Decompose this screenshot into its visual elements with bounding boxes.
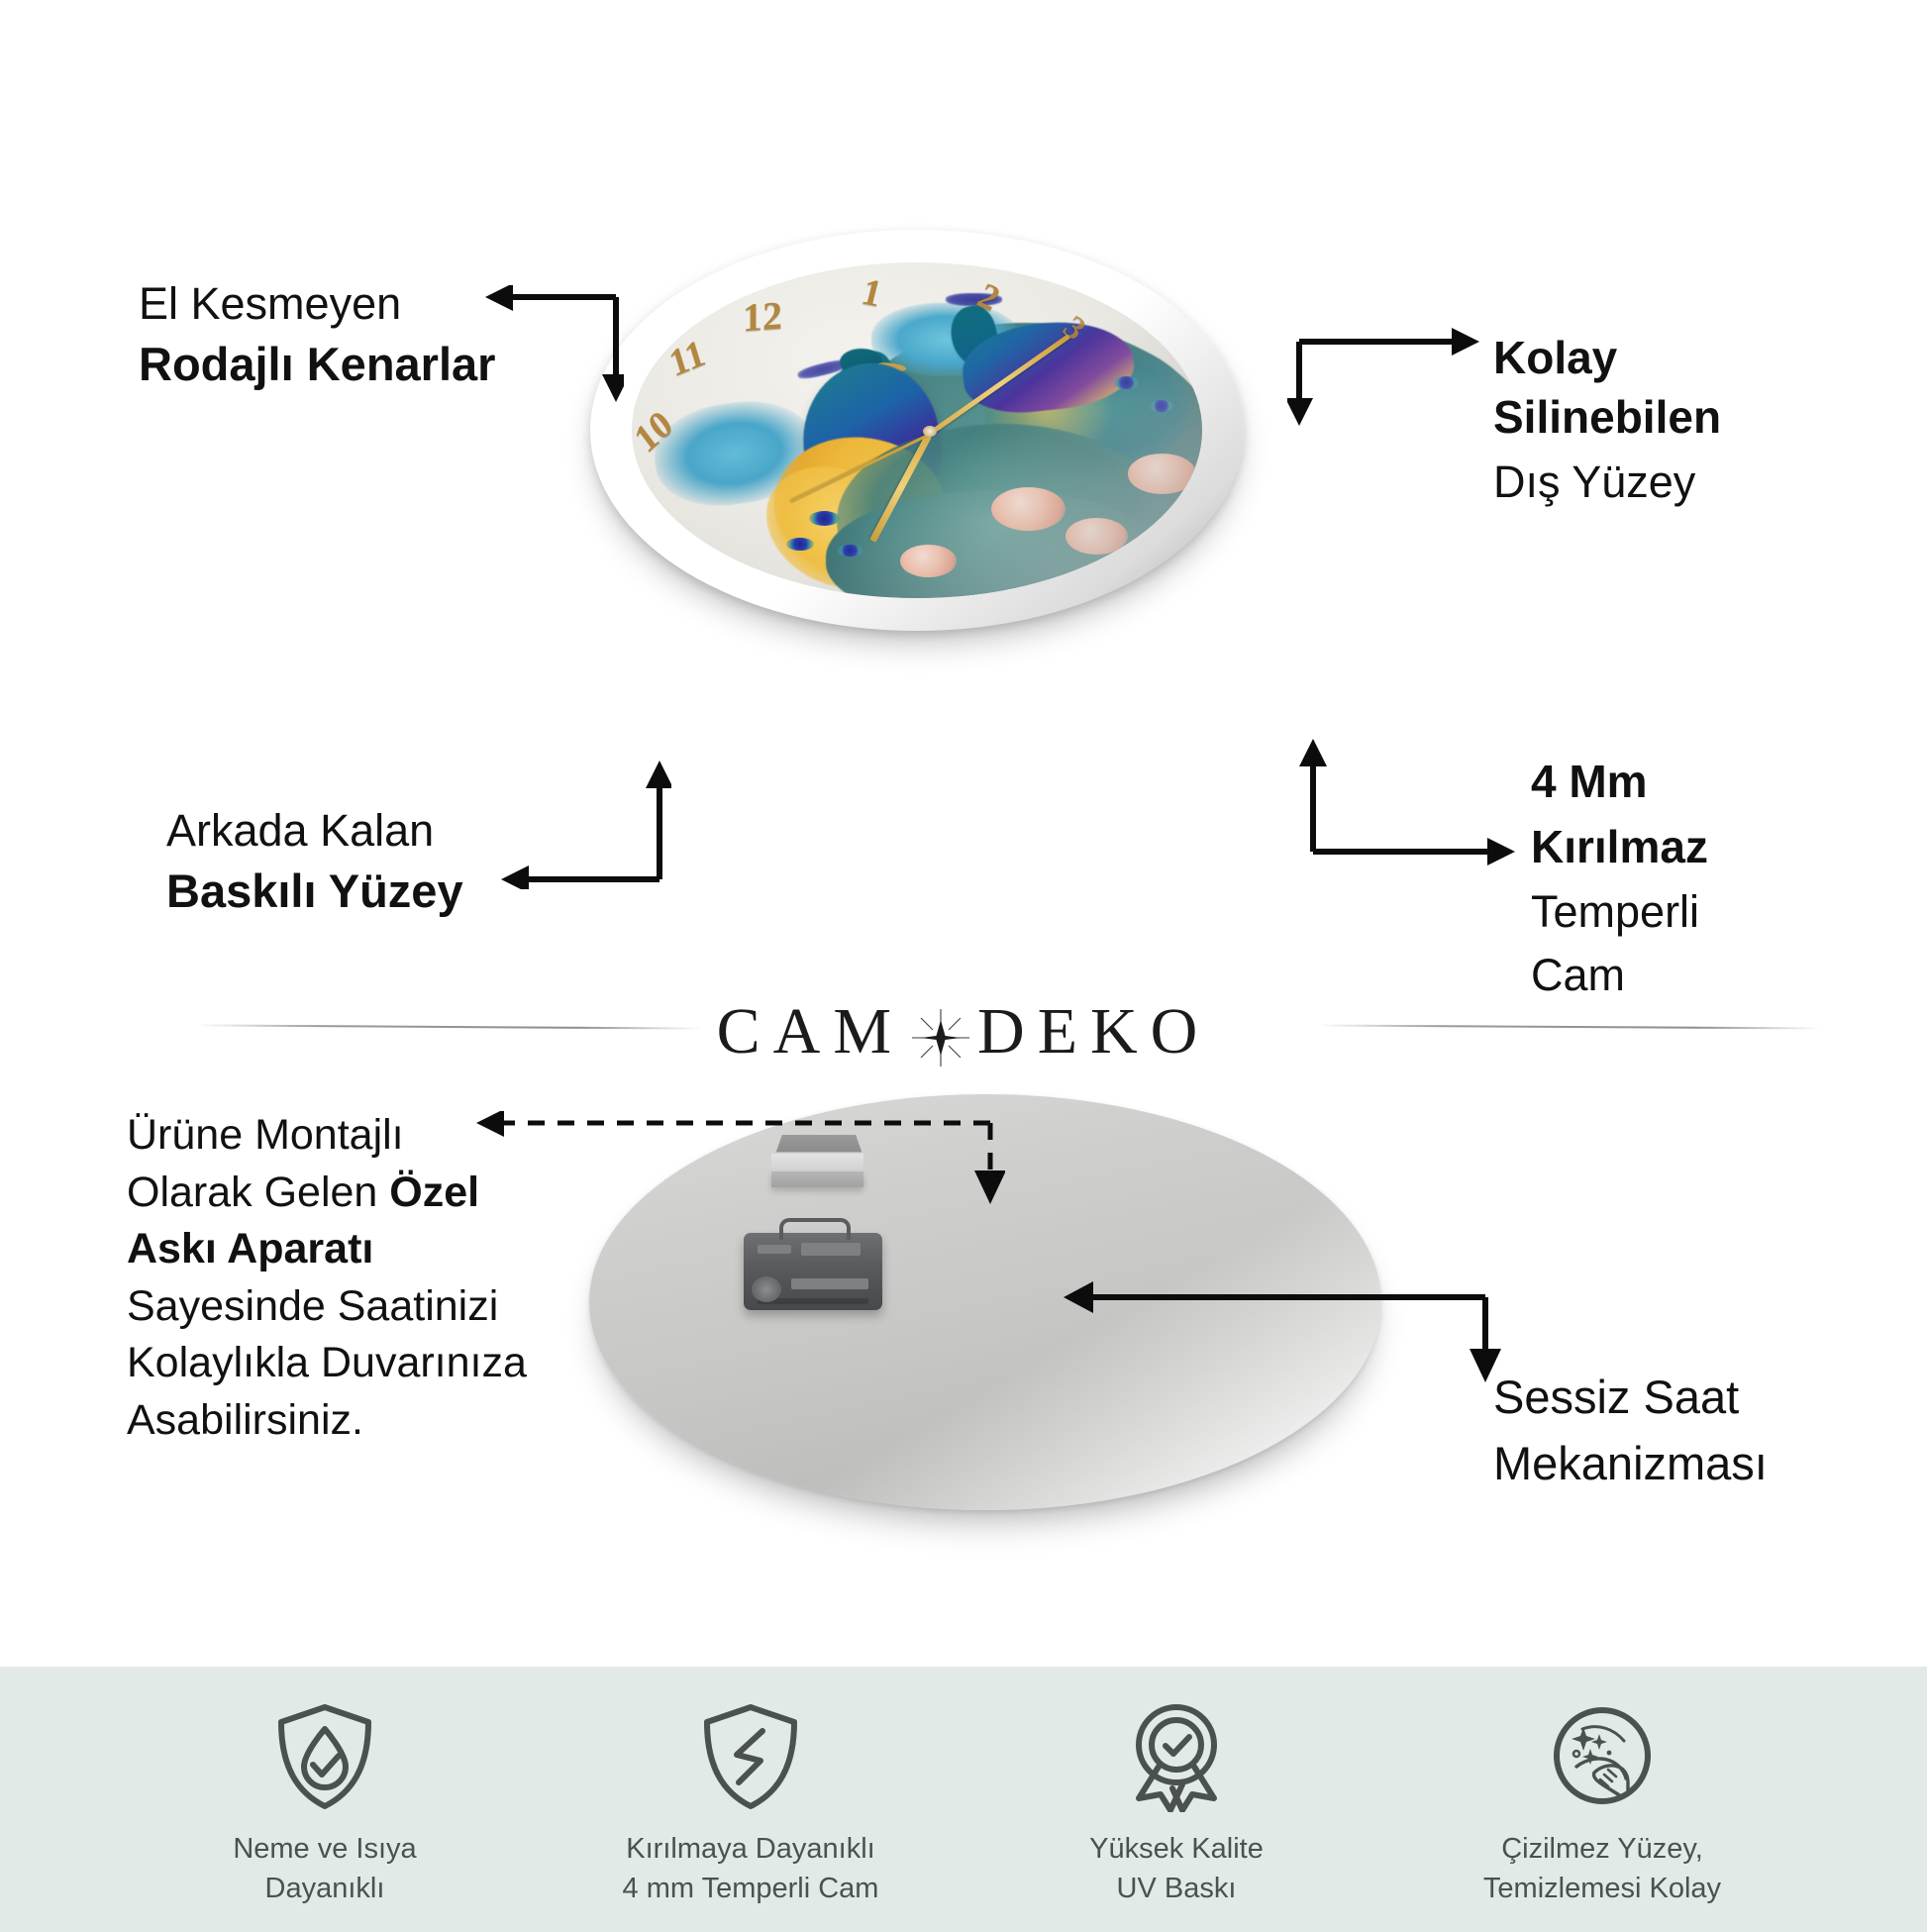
- callout-aski-line-5: Kolaylıkla Duvarınıza: [127, 1335, 527, 1392]
- brand-divider-band: CAM DEKO: [0, 951, 1927, 1079]
- arrow-to-kolay-silinebilen: [1287, 327, 1485, 446]
- shield-crack-icon: [699, 1698, 802, 1815]
- callout-cam-line-3: Temperli: [1531, 883, 1708, 942]
- callout-aski-line-6: Asabilirsiniz.: [127, 1392, 527, 1450]
- clock-artwork: [632, 262, 1202, 598]
- callout-rodajli-kenarlar: El Kesmeyen Rodajlı Kenarlar: [139, 275, 495, 394]
- arrow-to-baskili-yuzey: [473, 741, 671, 889]
- feature-caption-line-2: Temizlemesi Kolay: [1483, 1869, 1721, 1908]
- infographic-stage: 12 1 2 3 11 10 9 El Kesmeyen Rodajlı Ken…: [0, 0, 1927, 1932]
- callout-aski-line-4: Sayesinde Saatinizi: [127, 1278, 527, 1336]
- feature-caption-line-2: 4 mm Temperli Cam: [623, 1869, 879, 1908]
- clock-dial: 12 1 2 3 11 10 9: [632, 262, 1202, 598]
- feature-bar: Neme ve Isıya Dayanıklı Kırılmaya Dayanı…: [0, 1667, 1927, 1932]
- brand-logo: CAM DEKO: [0, 994, 1927, 1070]
- feature-item-uv-print-quality: Yüksek Kalite UV Baskı: [963, 1690, 1389, 1908]
- callout-aski-line-3: Askı Aparatı: [127, 1221, 527, 1278]
- clock-numeral-12: 12: [744, 291, 783, 341]
- feature-caption-line-1: Yüksek Kalite: [1089, 1829, 1264, 1869]
- feature-caption-break-resistant: Kırılmaya Dayanıklı 4 mm Temperli Cam: [623, 1829, 879, 1908]
- callout-cam-line-1: 4 Mm: [1531, 753, 1708, 812]
- brand-logo-deko: DEKO: [977, 995, 1210, 1068]
- callout-mekanizma-line-2: Mekanizması: [1493, 1431, 1768, 1497]
- feature-caption-line-1: Çizilmez Yüzey,: [1483, 1829, 1721, 1869]
- product-front-image: 12 1 2 3 11 10 9: [590, 230, 1244, 631]
- shield-water-drop-check-icon: [273, 1698, 376, 1815]
- clock-movement-module: [744, 1233, 882, 1310]
- feature-caption-moisture-heat: Neme ve Isıya Dayanıklı: [233, 1829, 416, 1908]
- callout-mekanizma-line-1: Sessiz Saat: [1493, 1365, 1768, 1431]
- callout-aski-line-1: Ürüne Montajlı: [127, 1107, 527, 1165]
- feature-caption-uv-print-quality: Yüksek Kalite UV Baskı: [1089, 1829, 1264, 1908]
- feature-caption-line-2: UV Baskı: [1089, 1869, 1264, 1908]
- arrow-to-temperli-cam: [1295, 713, 1523, 871]
- callout-baskili-yuzey: Arkada Kalan Baskılı Yüzey: [166, 802, 463, 921]
- feature-caption-line-1: Kırılmaya Dayanıklı: [623, 1829, 879, 1869]
- callout-aski-line-2a: Olarak Gelen: [127, 1169, 389, 1216]
- feature-caption-line-1: Neme ve Isıya: [233, 1829, 416, 1869]
- award-ribbon-check-icon: [1123, 1698, 1230, 1815]
- brand-logo-cam: CAM: [717, 995, 904, 1068]
- callout-kolay-silinebilen: Kolay Silinebilen Dış Yüzey: [1493, 329, 1721, 511]
- sparkle-hand-clean-icon: [1549, 1698, 1656, 1815]
- callout-rodajli-line-2: Rodajlı Kenarlar: [139, 334, 495, 394]
- callout-kolay-line-1: Kolay: [1493, 329, 1721, 388]
- callout-sessiz-saat-mekanizmasi: Sessiz Saat Mekanizması: [1493, 1365, 1768, 1496]
- callout-kolay-line-2: Silinebilen: [1493, 388, 1721, 448]
- clock-outer-bezel: 12 1 2 3 11 10 9: [590, 230, 1244, 631]
- feature-item-scratch-free: Çizilmez Yüzey, Temizlemesi Kolay: [1389, 1690, 1815, 1908]
- callout-aski-aparati: Ürüne Montajlı Olarak Gelen Özel Askı Ap…: [127, 1107, 527, 1450]
- callout-baskili-line-2: Baskılı Yüzey: [166, 861, 463, 921]
- callout-rodajli-line-1: El Kesmeyen: [139, 275, 495, 334]
- callout-kolay-line-3: Dış Yüzey: [1493, 454, 1721, 512]
- wall-hanger-bracket: [771, 1132, 863, 1193]
- feature-item-break-resistant: Kırılmaya Dayanıklı 4 mm Temperli Cam: [538, 1690, 963, 1908]
- product-back-image: [589, 1094, 1381, 1510]
- callout-aski-line-2b: Özel: [389, 1169, 479, 1216]
- clock-back-rim-highlight: [589, 1094, 1381, 1510]
- callout-cam-line-2: Kırılmaz: [1531, 818, 1708, 877]
- feature-item-moisture-heat: Neme ve Isıya Dayanıklı: [112, 1690, 538, 1908]
- feature-caption-scratch-free: Çizilmez Yüzey, Temizlemesi Kolay: [1483, 1829, 1721, 1908]
- sparkle-star-icon: [904, 1005, 977, 1070]
- callout-baskili-line-1: Arkada Kalan: [166, 802, 463, 861]
- feature-caption-line-2: Dayanıklı: [233, 1869, 416, 1908]
